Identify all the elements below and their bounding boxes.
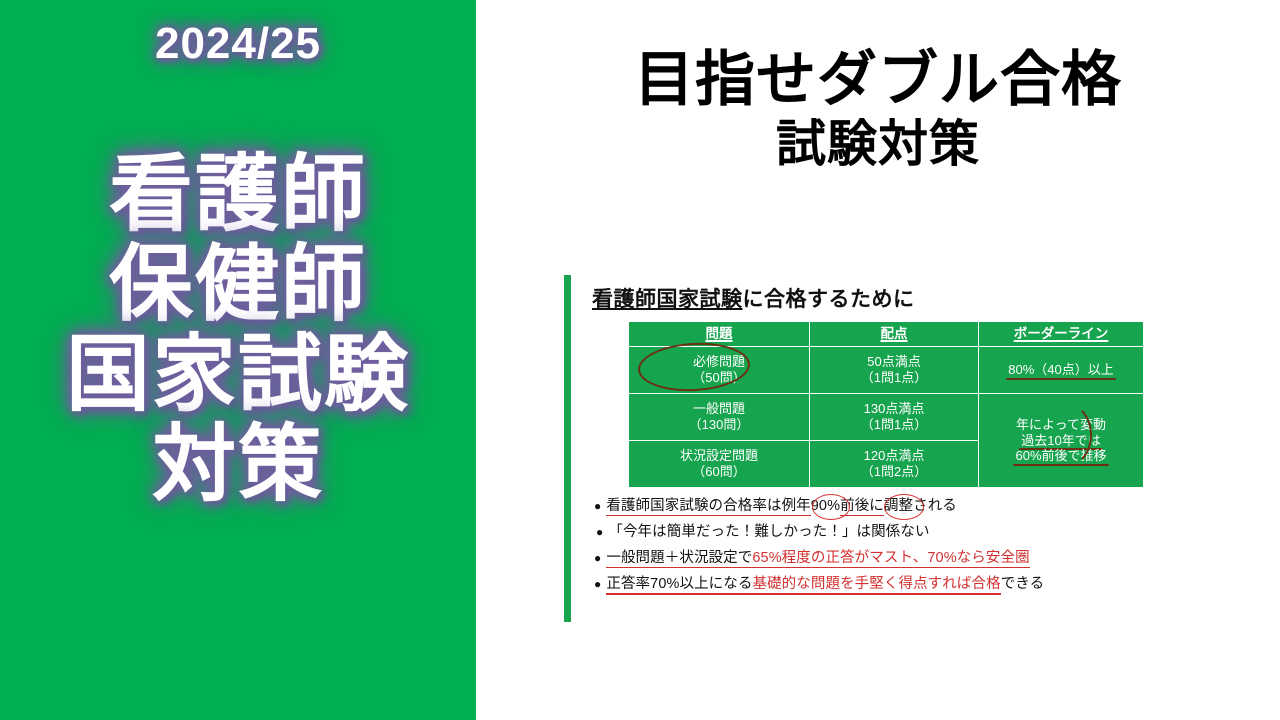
list-item: ●看護師国家試験の合格率は例年90%前後に調整される	[594, 497, 1174, 515]
right-content-panel: 目指せダブル合格 試験対策 看護師国家試験に合格するために 問題 配点 ボーダー…	[476, 0, 1280, 720]
cell-question-1: 必修問題 （50問）	[629, 347, 810, 394]
left-title-line-1: 看護師	[0, 150, 476, 240]
bullet-marker: ●	[596, 525, 603, 539]
headline-block: 目指せダブル合格 試験対策	[476, 48, 1280, 171]
bullet-1-seg-2: 例年	[782, 497, 811, 515]
table-row: 必修問題 （50問） 50点満点 （1問1点） 80%（40点）以上	[629, 347, 1144, 394]
cell-question-2-main: 一般問題	[693, 401, 745, 416]
cell-question-3: 状況設定問題 （60問）	[629, 441, 810, 488]
cell-points-2-main: 130点満点	[864, 401, 925, 416]
cell-points-3: 120点満点 （1問2点）	[810, 441, 979, 488]
bullet-1-seg-6: される	[913, 498, 957, 514]
table-header-borderline: ボーダーライン	[979, 322, 1144, 347]
bullet-marker: ●	[594, 499, 601, 513]
cell-question-3-sub: （60問）	[692, 464, 745, 479]
bullet-3-seg-1: 一般問題＋状況設定で	[606, 549, 752, 567]
table-row: 一般問題 （130問） 130点満点 （1問1点） 年によって変動 過去10年で…	[629, 394, 1144, 441]
slide-excerpt-card: 看護師国家試験に合格するために 問題 配点 ボーダーライン 必修問題 （50問）	[564, 275, 1184, 625]
headline-line-1: 目指せダブル合格	[476, 48, 1280, 113]
table-header-question: 問題	[629, 322, 810, 347]
bullet-marker: ●	[594, 577, 601, 591]
cell-question-1-main: 必修問題	[693, 354, 745, 369]
bullet-4-seg-2: 基礎的な問題を手堅く得点すれば合格	[752, 575, 1000, 593]
cell-points-3-main: 120点満点	[864, 448, 925, 463]
bullet-1-seg-5: 調整	[884, 498, 913, 514]
cell-question-2-sub: （130問）	[689, 417, 750, 432]
cell-points-3-sub: （1問2点）	[861, 464, 927, 479]
table-header-row: 問題 配点 ボーダーライン	[629, 322, 1144, 347]
cell-border-1: 80%（40点）以上	[979, 347, 1144, 394]
bullet-list: ●看護師国家試験の合格率は例年90%前後に調整される ●「今年は簡単だった！難し…	[594, 497, 1174, 602]
list-item: ●正答率70%以上になる基礎的な問題を手堅く得点すれば合格できる	[594, 575, 1174, 593]
cell-points-2: 130点満点 （1問1点）	[810, 394, 979, 441]
left-title-line-2: 保健師	[0, 240, 476, 330]
bullet-2-seg-1: 「今年は簡単だった！難しかった！」は関係ない	[608, 524, 929, 540]
left-panel-title: 看護師 保健師 国家試験 対策	[0, 150, 476, 510]
card-title-rest: に合格するために	[743, 288, 915, 311]
bullet-1-seg-4: 前後に	[840, 497, 884, 515]
cell-border-merged: 年によって変動 過去10年では 60%前後で推移	[979, 394, 1144, 488]
cell-question-3-main: 状況設定問題	[680, 448, 758, 463]
slide-canvas: 2024/25 看護師 保健師 国家試験 対策 目指せダブル合格 試験対策 看護…	[0, 0, 1280, 720]
left-green-panel: 2024/25 看護師 保健師 国家試験 対策	[0, 0, 476, 720]
card-title: 看護師国家試験に合格するために	[592, 283, 915, 313]
left-title-line-4: 対策	[0, 420, 476, 510]
card-title-underlined: 看護師国家試験	[592, 288, 743, 311]
cell-question-2: 一般問題 （130問）	[629, 394, 810, 441]
cell-border-merged-line-1: 年によって変動	[1016, 417, 1106, 432]
score-breakdown-table: 問題 配点 ボーダーライン 必修問題 （50問） 50点満点 （1問1点）	[628, 321, 1144, 488]
year-badge: 2024/25	[0, 22, 476, 66]
cell-border-merged-line-2: 過去10年では	[1021, 433, 1100, 449]
headline-line-2: 試験対策	[476, 117, 1280, 171]
bullet-4-seg-3: できる	[1001, 576, 1045, 592]
cell-points-1-sub: （1問1点）	[861, 370, 927, 385]
left-title-line-3: 国家試験	[0, 330, 476, 420]
cell-points-2-sub: （1問1点）	[861, 417, 927, 432]
bullet-1-seg-3: 90%	[811, 498, 840, 514]
bullet-3-seg-3: 70%なら安全圏	[927, 549, 1029, 567]
green-accent-bar	[564, 275, 571, 622]
table-header-points: 配点	[810, 322, 979, 347]
bullet-1-seg-1: 看護師国家試験の合格率は	[606, 497, 781, 515]
list-item: ●「今年は簡単だった！難しかった！」は関係ない	[596, 523, 1174, 541]
list-item: ●一般問題＋状況設定で65%程度の正答がマスト、70%なら安全圏	[594, 549, 1174, 567]
bullet-marker: ●	[594, 551, 601, 565]
bullet-3-seg-2: 65%程度の正答がマスト、	[752, 549, 927, 567]
cell-border-merged-line-3: 60%前後で推移	[1015, 448, 1106, 464]
cell-points-1: 50点満点 （1問1点）	[810, 347, 979, 394]
cell-border-1-text: 80%（40点）以上	[1008, 362, 1113, 378]
cell-points-1-main: 50点満点	[867, 354, 920, 369]
cell-question-1-sub: （50問）	[692, 370, 745, 385]
bullet-4-seg-1: 正答率70%以上になる	[606, 575, 752, 593]
